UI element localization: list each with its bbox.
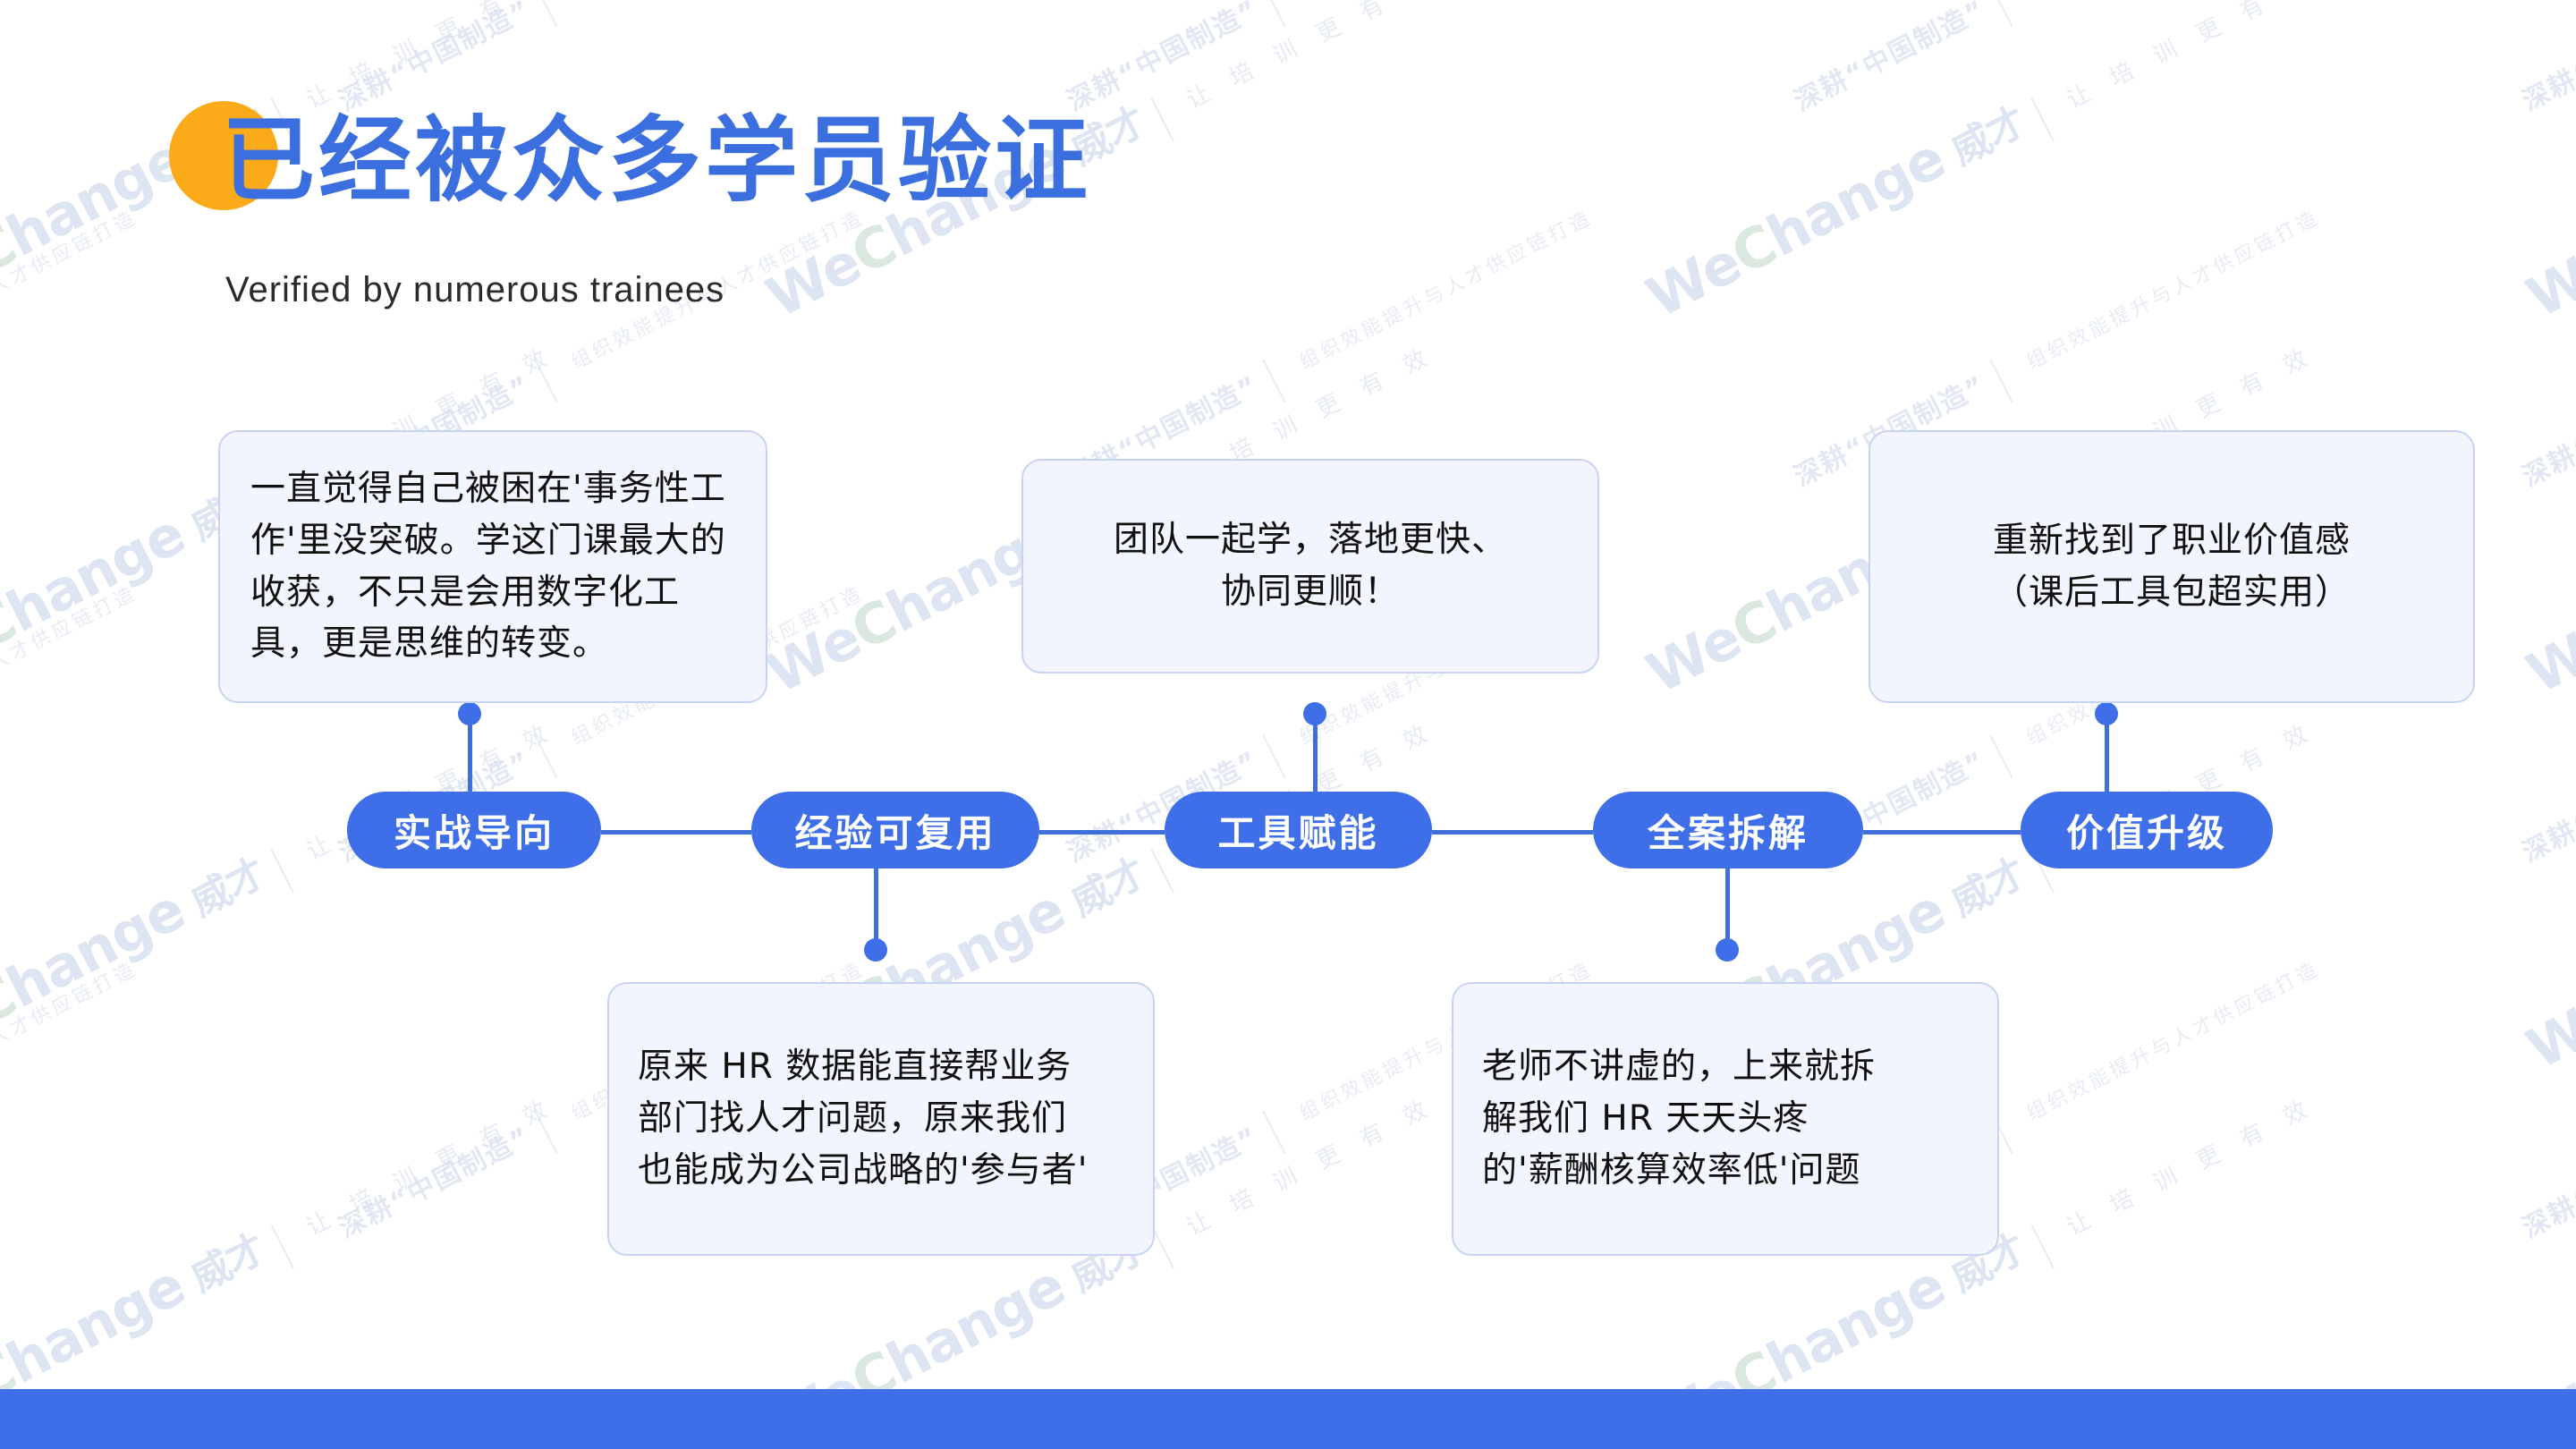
connector-dot-3 <box>1303 702 1326 725</box>
timeline-track-segment <box>601 830 751 835</box>
page-subtitle: Verified by numerous trainees <box>225 270 724 310</box>
timeline-node-经验可复用[interactable]: 经验可复用 <box>751 792 1039 869</box>
connector-dot-1 <box>458 702 481 725</box>
timeline-track-segment <box>1863 830 2021 835</box>
timeline-node-label: 价值升级 <box>2066 803 2227 858</box>
timeline-node-label: 全案拆解 <box>1648 803 1809 858</box>
timeline-node-实战导向[interactable]: 实战导向 <box>347 792 601 869</box>
testimonial-card-4: 原来 HR 数据能直接帮业务 部门找人才问题，原来我们 也能成为公司战略的'参与… <box>607 982 1155 1256</box>
timeline-node-label: 工具赋能 <box>1217 803 1378 858</box>
testimonial-text: 老师不讲虚的，上来就拆 解我们 HR 天天头疼 的'薪酬核算效率低'问题 <box>1482 1041 1969 1196</box>
connector-dot-5 <box>2095 702 2118 725</box>
connector-dot-2 <box>864 938 887 962</box>
page-title: 已经被众多学员验证 <box>222 112 1091 209</box>
timeline-track-segment <box>1039 830 1165 835</box>
testimonial-text: 原来 HR 数据能直接帮业务 部门找人才问题，原来我们 也能成为公司战略的'参与… <box>638 1041 1124 1196</box>
testimonial-text: 团队一起学，落地更快、 协同更顺！ <box>1050 514 1571 617</box>
timeline-node-label: 经验可复用 <box>794 803 996 858</box>
testimonial-text: 一直觉得自己被困在'事务性工 作'里没突破。学这门课最大的 收获，不只是会用数字… <box>250 463 735 670</box>
timeline-node-label: 实战导向 <box>394 803 555 858</box>
timeline-track-segment <box>1432 830 1593 835</box>
testimonial-card-2: 团队一起学，落地更快、 协同更顺！ <box>1021 459 1599 674</box>
testimonial-card-5: 老师不讲虚的，上来就拆 解我们 HR 天天头疼 的'薪酬核算效率低'问题 <box>1452 982 1999 1256</box>
timeline-node-全案拆解[interactable]: 全案拆解 <box>1593 792 1863 869</box>
testimonial-text: 重新找到了职业价值感 （课后工具包超实用） <box>1894 515 2450 618</box>
testimonial-card-3: 重新找到了职业价值感 （课后工具包超实用） <box>1868 430 2475 703</box>
timeline-node-价值升级[interactable]: 价值升级 <box>2021 792 2273 869</box>
timeline: 实战导向 经验可复用 工具赋能 全案拆解 价值升级 <box>0 0 2576 1449</box>
timeline-node-工具赋能[interactable]: 工具赋能 <box>1165 792 1432 869</box>
testimonial-card-1: 一直觉得自己被困在'事务性工 作'里没突破。学这门课最大的 收获，不只是会用数字… <box>218 430 767 703</box>
footer-bar <box>0 1389 2576 1449</box>
connector-dot-4 <box>1716 938 1739 962</box>
